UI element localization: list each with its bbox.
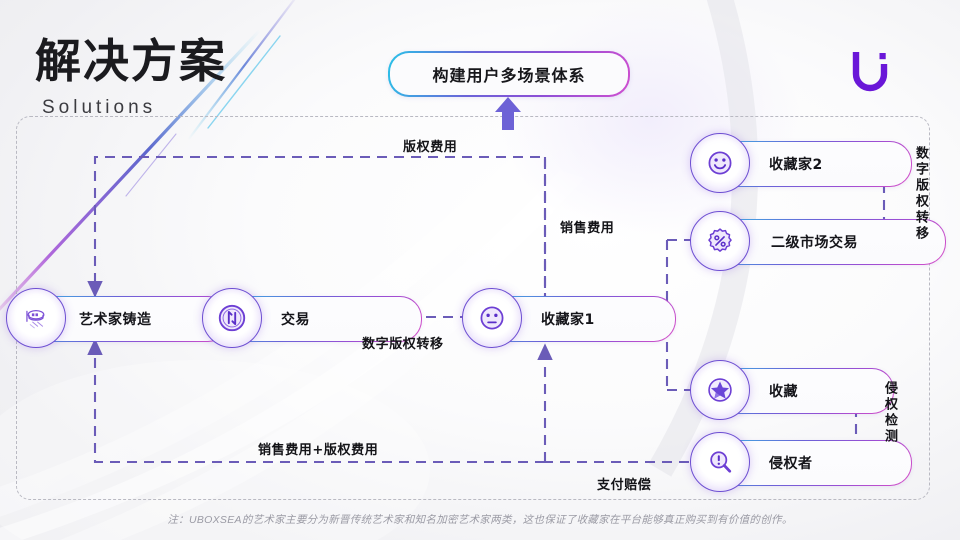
edge-label-digital-copyright-transfer: 数字版权转移 <box>362 333 444 352</box>
swap-arrows-icon <box>202 288 262 348</box>
up-arrow-indicator <box>492 96 524 130</box>
percent-badge-icon <box>690 211 750 271</box>
node-artist-mint[interactable]: 艺术家铸造 <box>22 296 230 342</box>
mint-press-icon <box>6 288 66 348</box>
vertical-label-digital-copyright-transfer: 数字版权转移 <box>911 146 930 242</box>
top-banner-label: 构建用户多场景体系 <box>432 62 585 86</box>
node-collector-2[interactable]: 收藏家2 <box>706 141 912 187</box>
magnifier-alert-icon <box>690 432 750 492</box>
footer-note: 注：UBOXSEA的艺术家主要分为新晋传统艺术家和知名加密艺术家两类，这也保证了… <box>0 512 960 527</box>
vertical-label-infringement-detection: 侵权检测 <box>880 381 899 445</box>
node-label: 侵权者 <box>769 453 813 473</box>
neutral-face-icon <box>462 288 522 348</box>
node-infringer[interactable]: 侵权者 <box>706 440 912 486</box>
node-label: 收藏家1 <box>541 309 595 329</box>
edge-label-copyright-fee: 版权费用 <box>403 136 457 155</box>
node-collector-1[interactable]: 收藏家1 <box>478 296 676 342</box>
node-secondary-market[interactable]: 二级市场交易 <box>706 219 946 265</box>
node-label: 艺术家铸造 <box>79 309 152 329</box>
node-label: 二级市场交易 <box>771 232 858 252</box>
node-label: 收藏 <box>769 381 798 401</box>
smiley-face-icon <box>690 133 750 193</box>
star-icon <box>690 360 750 420</box>
top-banner-pill[interactable]: 构建用户多场景体系 <box>388 51 630 97</box>
edge-label-sales-plus-copyright-fee: 销售费用+版权费用 <box>258 439 378 458</box>
uboxsea-u-logo <box>848 48 894 94</box>
slide-canvas: 解决方案 Solutions 构建用户多场景体系 <box>0 0 960 540</box>
page-title: 解决方案 <box>35 38 227 84</box>
edge-label-pay-compensation: 支付赔偿 <box>597 474 651 493</box>
node-label: 收藏家2 <box>769 154 823 174</box>
node-label: 交易 <box>281 309 310 329</box>
node-collection[interactable]: 收藏 <box>706 368 894 414</box>
edge-label-sales-fee: 销售费用 <box>560 217 614 236</box>
